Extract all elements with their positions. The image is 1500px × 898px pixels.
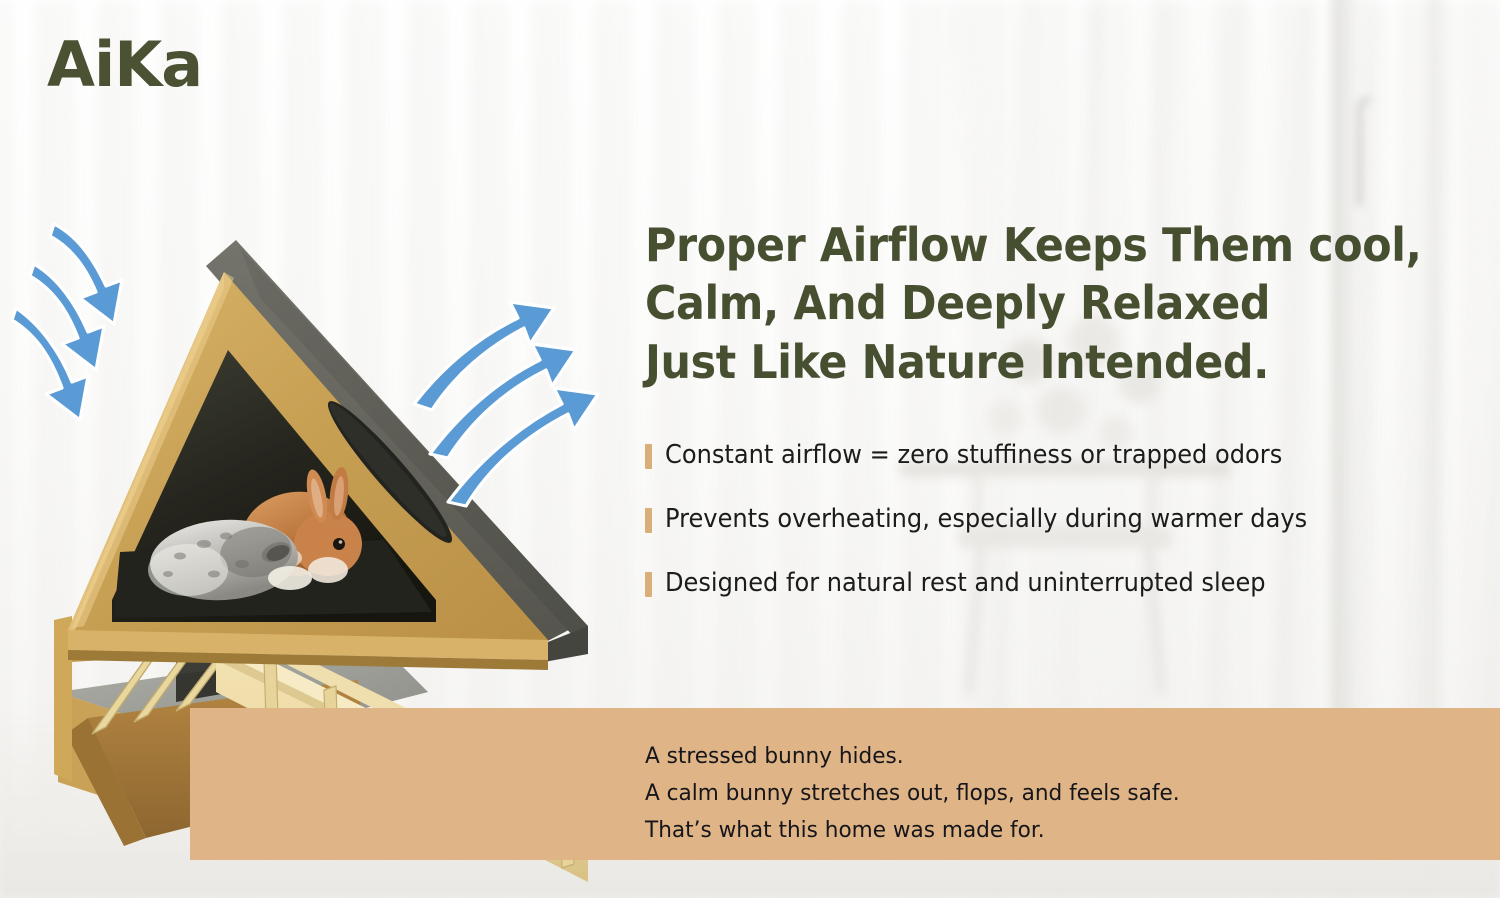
footer-line-2: A calm bunny stretches out, flops, and f… xyxy=(645,775,1432,812)
list-item: Designed for natural rest and uninterrup… xyxy=(645,568,1455,600)
outflow-arrow-1 xyxy=(414,302,554,410)
list-item-label: Prevents overheating, especially during … xyxy=(665,507,1307,533)
list-item: Prevents overheating, especially during … xyxy=(645,504,1455,536)
bullet-marker-icon xyxy=(645,444,652,469)
airflow-inlet-arrows xyxy=(18,212,218,442)
footer-line-3: That’s what this home was made for. xyxy=(645,812,1432,849)
footer-line-1: A stressed bunny hides. xyxy=(645,738,1432,775)
infographic-canvas: AiKa xyxy=(0,0,1500,898)
outflow-arrow-3 xyxy=(448,388,598,506)
window-handle xyxy=(1356,96,1370,206)
bullet-marker-icon xyxy=(645,572,652,597)
headline-line-3: Just Like Nature Intended. xyxy=(645,333,1398,391)
airflow-outlet-arrows xyxy=(418,296,618,526)
list-item-label: Constant airflow = zero stuffiness or tr… xyxy=(665,443,1282,469)
footer-copy: A stressed bunny hides. A calm bunny str… xyxy=(645,738,1465,849)
headline-line-2: Calm, And Deeply Relaxed xyxy=(645,274,1398,332)
list-item: Constant airflow = zero stuffiness or tr… xyxy=(645,440,1455,472)
brand-logo: AiKa xyxy=(47,34,202,96)
bullet-marker-icon xyxy=(645,508,652,533)
feature-list: Constant airflow = zero stuffiness or tr… xyxy=(645,440,1455,632)
list-item-label: Designed for natural rest and uninterrup… xyxy=(665,571,1266,597)
headline-line-1: Proper Airflow Keeps Them cool, xyxy=(645,216,1398,274)
inflow-arrow-1 xyxy=(50,224,122,324)
page-title: Proper Airflow Keeps Them cool, Calm, An… xyxy=(645,216,1398,391)
